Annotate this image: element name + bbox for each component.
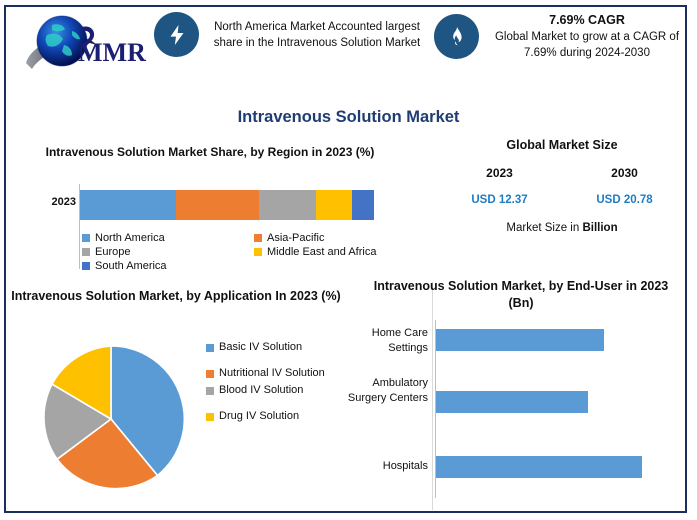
legend-label-north-america: North America bbox=[95, 232, 165, 244]
pie-legend-item-drug-iv[interactable]: Drug IV Solution bbox=[206, 409, 356, 424]
region-category-label: 2023 bbox=[30, 196, 76, 208]
year-2023-label: 2023 bbox=[445, 166, 555, 180]
legend-item-middle-east-africa[interactable]: Middle East and Africa bbox=[254, 246, 376, 258]
cagr-description: Global Market to grow at a CAGR of 7.69%… bbox=[495, 31, 679, 59]
end-user-row-ambulatory: Ambulatory Surgery Centers bbox=[340, 382, 692, 438]
legend-swatch-asia-pacific bbox=[254, 234, 262, 242]
cagr-value: 7.69% CAGR bbox=[490, 12, 684, 28]
pie-legend: Basic IV Solution Nutritional IV Solutio… bbox=[206, 340, 356, 435]
header-text-1: North America Market Accounted largest s… bbox=[210, 19, 424, 51]
end-user-bar-ambulatory[interactable] bbox=[436, 391, 588, 413]
legend-swatch-middle-east-africa bbox=[254, 248, 262, 256]
end-user-label-ambulatory: Ambulatory Surgery Centers bbox=[340, 376, 428, 406]
region-segment-north-america[interactable] bbox=[80, 190, 176, 220]
pie-legend-swatch-nutritional-iv bbox=[206, 370, 214, 378]
market-size-unit: Market Size in Billion bbox=[437, 222, 687, 234]
region-plot-area: 2023 bbox=[10, 186, 430, 226]
legend-label-asia-pacific: Asia-Pacific bbox=[267, 232, 324, 244]
end-user-label-home-care: Home Care Settings bbox=[340, 326, 428, 356]
header-highlight-1: North America Market Accounted largest s… bbox=[154, 12, 424, 57]
region-segment-middle-east-africa[interactable] bbox=[316, 190, 352, 220]
pie-chart-title: Intravenous Solution Market, by Applicat… bbox=[6, 288, 346, 305]
value-2030: USD 20.78 bbox=[570, 194, 680, 206]
year-2030-label: 2030 bbox=[570, 166, 680, 180]
market-size-unit-bold: Billion bbox=[582, 222, 617, 234]
end-user-row-home-care: Home Care Settings bbox=[340, 324, 692, 380]
mmr-logo: MMR bbox=[20, 11, 148, 81]
market-size-unit-prefix: Market Size in bbox=[506, 222, 582, 234]
region-legend-row: South America bbox=[82, 260, 422, 272]
region-legend-row: Europe Middle East and Africa bbox=[82, 246, 422, 258]
legend-item-asia-pacific[interactable]: Asia-Pacific bbox=[254, 232, 324, 244]
application-share-chart: Intravenous Solution Market, by Applicat… bbox=[6, 288, 356, 516]
pie-chart-graphic bbox=[36, 344, 186, 494]
end-user-plot-area: Home Care Settings Ambulatory Surgery Ce… bbox=[340, 320, 692, 500]
pie-legend-label-blood-iv: Blood IV Solution bbox=[219, 383, 303, 398]
header-highlight-2: 7.69% CAGR Global Market to grow at a CA… bbox=[434, 12, 684, 61]
global-market-size-values: USD 12.37 USD 20.78 bbox=[437, 194, 687, 206]
end-user-bar-home-care[interactable] bbox=[436, 329, 604, 351]
value-2023: USD 12.37 bbox=[445, 194, 555, 206]
legend-item-south-america[interactable]: South America bbox=[82, 260, 254, 272]
infographic-canvas: MMR North America Market Accounted large… bbox=[0, 0, 697, 520]
pie-legend-label-basic-iv: Basic IV Solution bbox=[219, 340, 302, 355]
legend-swatch-north-america bbox=[82, 234, 90, 242]
global-market-size-panel: Global Market Size 2023 2030 USD 12.37 U… bbox=[437, 138, 687, 263]
region-segment-asia-pacific[interactable] bbox=[176, 190, 259, 220]
end-user-bar-hospitals[interactable] bbox=[436, 456, 642, 478]
pie-legend-swatch-blood-iv bbox=[206, 387, 214, 395]
logo-wordmark: MMR bbox=[78, 38, 146, 67]
region-share-chart: Intravenous Solution Market Share, by Re… bbox=[10, 144, 430, 284]
region-chart-title: Intravenous Solution Market Share, by Re… bbox=[10, 144, 410, 160]
header-text-2: 7.69% CAGR Global Market to grow at a CA… bbox=[490, 12, 684, 61]
header-bar: MMR North America Market Accounted large… bbox=[6, 3, 675, 91]
legend-item-north-america[interactable]: North America bbox=[82, 232, 254, 244]
global-market-size-title: Global Market Size bbox=[437, 138, 687, 152]
lightning-bolt-icon bbox=[154, 12, 199, 57]
page-title: Intravenous Solution Market bbox=[0, 108, 697, 127]
legend-label-europe: Europe bbox=[95, 246, 130, 258]
region-legend-row: North America Asia-Pacific bbox=[82, 232, 422, 244]
legend-swatch-europe bbox=[82, 248, 90, 256]
flame-icon bbox=[434, 14, 479, 59]
end-user-chart: Intravenous Solution Market, by End-User… bbox=[340, 278, 692, 516]
pie-legend-item-nutritional-iv[interactable]: Nutritional IV Solution bbox=[206, 366, 356, 381]
pie-legend-item-basic-iv[interactable]: Basic IV Solution bbox=[206, 340, 356, 355]
region-legend: North America Asia-Pacific Europe Middle… bbox=[82, 232, 422, 274]
legend-item-europe[interactable]: Europe bbox=[82, 246, 254, 258]
legend-swatch-south-america bbox=[82, 262, 90, 270]
global-market-size-years: 2023 2030 bbox=[437, 166, 687, 180]
legend-label-middle-east-africa: Middle East and Africa bbox=[267, 246, 376, 258]
pie-legend-item-blood-iv[interactable]: Blood IV Solution bbox=[206, 383, 356, 398]
pie-legend-swatch-drug-iv bbox=[206, 413, 214, 421]
pie-legend-label-drug-iv: Drug IV Solution bbox=[219, 409, 299, 424]
region-segment-europe[interactable] bbox=[259, 190, 316, 220]
pie-legend-label-nutritional-iv: Nutritional IV Solution bbox=[219, 366, 325, 381]
legend-label-south-america: South America bbox=[95, 260, 167, 272]
region-stacked-bar bbox=[80, 190, 374, 220]
end-user-chart-title: Intravenous Solution Market, by End-User… bbox=[362, 278, 680, 312]
end-user-row-hospitals: Hospitals bbox=[340, 450, 692, 506]
region-segment-south-america[interactable] bbox=[352, 190, 374, 220]
pie-legend-swatch-basic-iv bbox=[206, 344, 214, 352]
end-user-label-hospitals: Hospitals bbox=[340, 459, 428, 474]
globe-swoosh-icon: MMR bbox=[20, 11, 148, 81]
